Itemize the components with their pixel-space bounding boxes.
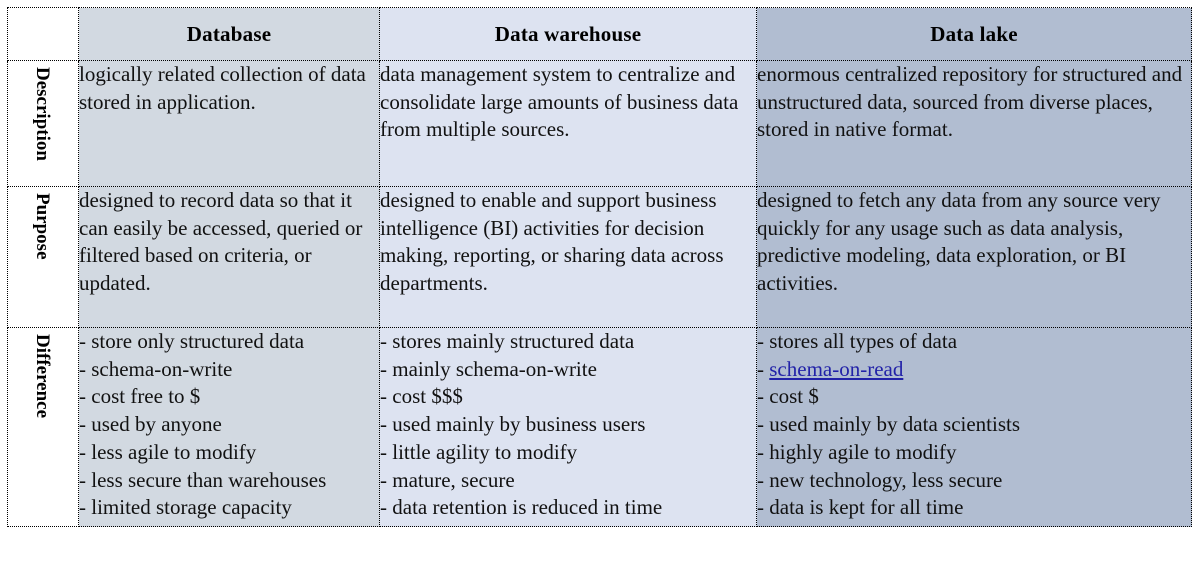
cell-text: logically related collection of data sto… <box>79 61 379 116</box>
cell-text: designed to enable and support business … <box>380 187 756 298</box>
list-item: - stores mainly structured data <box>380 328 756 356</box>
cell-text: data management system to centralize and… <box>380 61 756 144</box>
cell-difference-database: - store only structured data- schema-on-… <box>79 328 380 527</box>
row-label-difference: Difference <box>8 328 79 527</box>
table-corner-cell <box>8 8 79 61</box>
table-row-description: Description logically related collection… <box>8 61 1192 187</box>
row-label-purpose-text: Purpose <box>33 187 52 260</box>
cell-purpose-database: designed to record data so that it can e… <box>79 187 380 328</box>
cell-description-data-warehouse: data management system to centralize and… <box>380 61 757 187</box>
cell-difference-data-warehouse: - stores mainly structured data- mainly … <box>380 328 757 527</box>
cell-text: designed to record data so that it can e… <box>79 187 379 298</box>
column-header-data-lake: Data lake <box>757 8 1192 61</box>
column-header-data-warehouse: Data warehouse <box>380 8 757 61</box>
column-header-database: Database <box>79 8 380 61</box>
row-label-difference-text: Difference <box>33 328 52 418</box>
list-item: - little agility to modify <box>380 439 756 467</box>
cell-text: designed to fetch any data from any sour… <box>757 187 1191 298</box>
table-header-row: Database Data warehouse Data lake <box>8 8 1192 61</box>
list-item: - cost free to $ <box>79 383 379 411</box>
list-item: - less agile to modify <box>79 439 379 467</box>
comparison-table-container: Database Data warehouse Data lake Descri… <box>7 7 1191 527</box>
list-item: - new technology, less secure <box>757 467 1191 495</box>
list-item[interactable]: - schema-on-read <box>757 356 1191 384</box>
list-item: - used mainly by data scientists <box>757 411 1191 439</box>
table-row-purpose: Purpose designed to record data so that … <box>8 187 1192 328</box>
cell-text: enormous centralized repository for stru… <box>757 61 1191 144</box>
list-item: - store only structured data <box>79 328 379 356</box>
list-item: - cost $ <box>757 383 1191 411</box>
list-item: - mature, secure <box>380 467 756 495</box>
row-label-description-text: Description <box>33 61 52 161</box>
cell-purpose-data-lake: designed to fetch any data from any sour… <box>757 187 1192 328</box>
list-item: - highly agile to modify <box>757 439 1191 467</box>
cell-purpose-data-warehouse: designed to enable and support business … <box>380 187 757 328</box>
list-item: - used by anyone <box>79 411 379 439</box>
list-item: - used mainly by business users <box>380 411 756 439</box>
list-item: - less secure than warehouses <box>79 467 379 495</box>
bullet-list-database: - store only structured data- schema-on-… <box>79 328 379 522</box>
list-item: - data retention is reduced in time <box>380 494 756 522</box>
bullet-list-data-warehouse: - stores mainly structured data- mainly … <box>380 328 756 522</box>
comparison-table: Database Data warehouse Data lake Descri… <box>7 7 1192 527</box>
row-label-purpose: Purpose <box>8 187 79 328</box>
cell-description-database: logically related collection of data sto… <box>79 61 380 187</box>
list-item: - data is kept for all time <box>757 494 1191 522</box>
row-label-description: Description <box>8 61 79 187</box>
list-item: - limited storage capacity <box>79 494 379 522</box>
table-row-difference: Difference - store only structured data-… <box>8 328 1192 527</box>
cell-difference-data-lake: - stores all types of data- schema-on-re… <box>757 328 1192 527</box>
bullet-list-data-lake: - stores all types of data- schema-on-re… <box>757 328 1191 522</box>
cell-description-data-lake: enormous centralized repository for stru… <box>757 61 1192 187</box>
list-item: - stores all types of data <box>757 328 1191 356</box>
list-item: - schema-on-write <box>79 356 379 384</box>
list-item: - mainly schema-on-write <box>380 356 756 384</box>
list-item: - cost $$$ <box>380 383 756 411</box>
schema-on-read-link[interactable]: schema-on-read <box>769 357 903 381</box>
